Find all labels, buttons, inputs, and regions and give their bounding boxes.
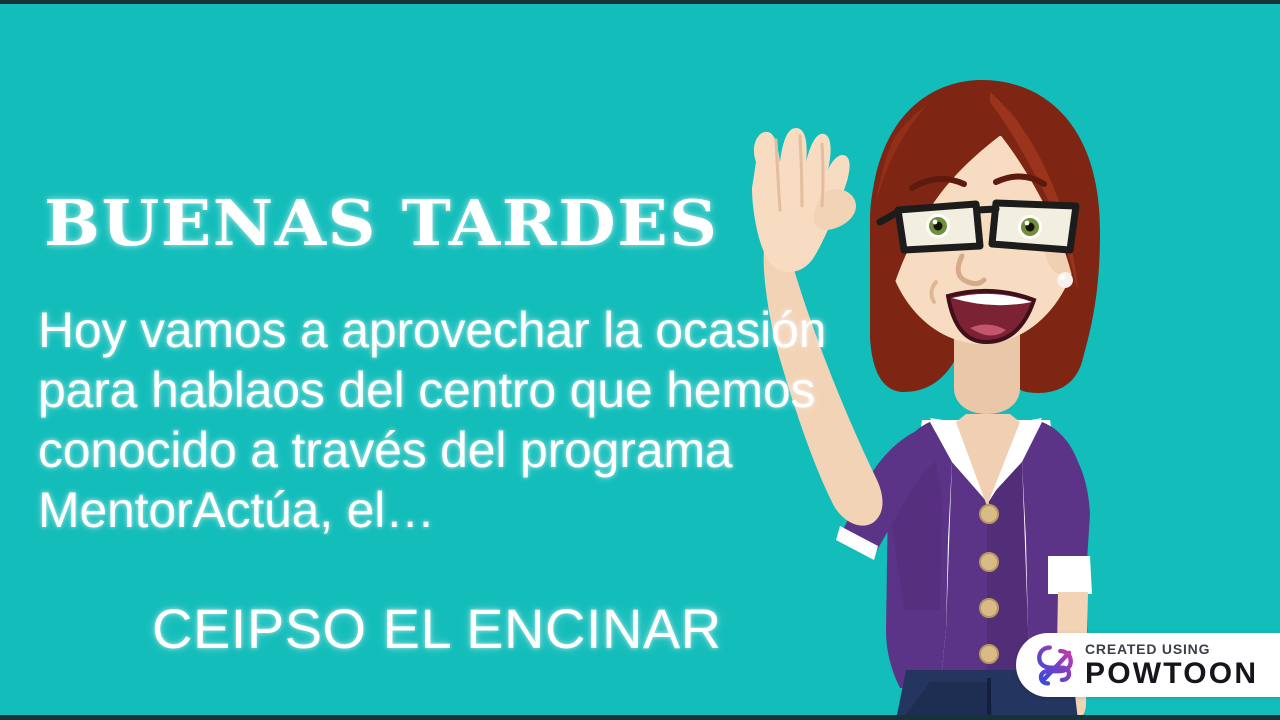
jacket-button-3 <box>980 599 998 617</box>
jacket-button-1 <box>980 505 998 523</box>
presenter-character-illustration <box>690 70 1210 720</box>
sleeve-right <box>1046 430 1090 576</box>
powtoon-logo-icon <box>1034 644 1076 686</box>
letterbox-bottom <box>0 715 1280 720</box>
powtoon-wordmark: CREATED USING POWTOON <box>1085 642 1258 689</box>
forearm-left-raised <box>764 248 883 526</box>
letterbox-top <box>0 0 1280 4</box>
eye-right-glint <box>1025 221 1030 226</box>
video-slide: BUENAS TARDES Hoy vamos a aprovechar la … <box>0 0 1280 720</box>
powtoon-watermark-badge[interactable]: CREATED USING POWTOON <box>1016 633 1280 697</box>
powtoon-brand-label: POWTOON <box>1085 659 1258 689</box>
earring <box>1057 272 1073 288</box>
jacket-button-2 <box>980 553 998 571</box>
earring-highlight <box>1059 274 1065 280</box>
glasses-icon <box>880 203 1076 250</box>
finger-crease-3 <box>822 144 823 206</box>
eye-left-glint <box>933 220 938 225</box>
jacket-button-4 <box>980 645 998 663</box>
created-using-label: CREATED USING <box>1085 642 1258 656</box>
cuff-right <box>1048 556 1092 594</box>
